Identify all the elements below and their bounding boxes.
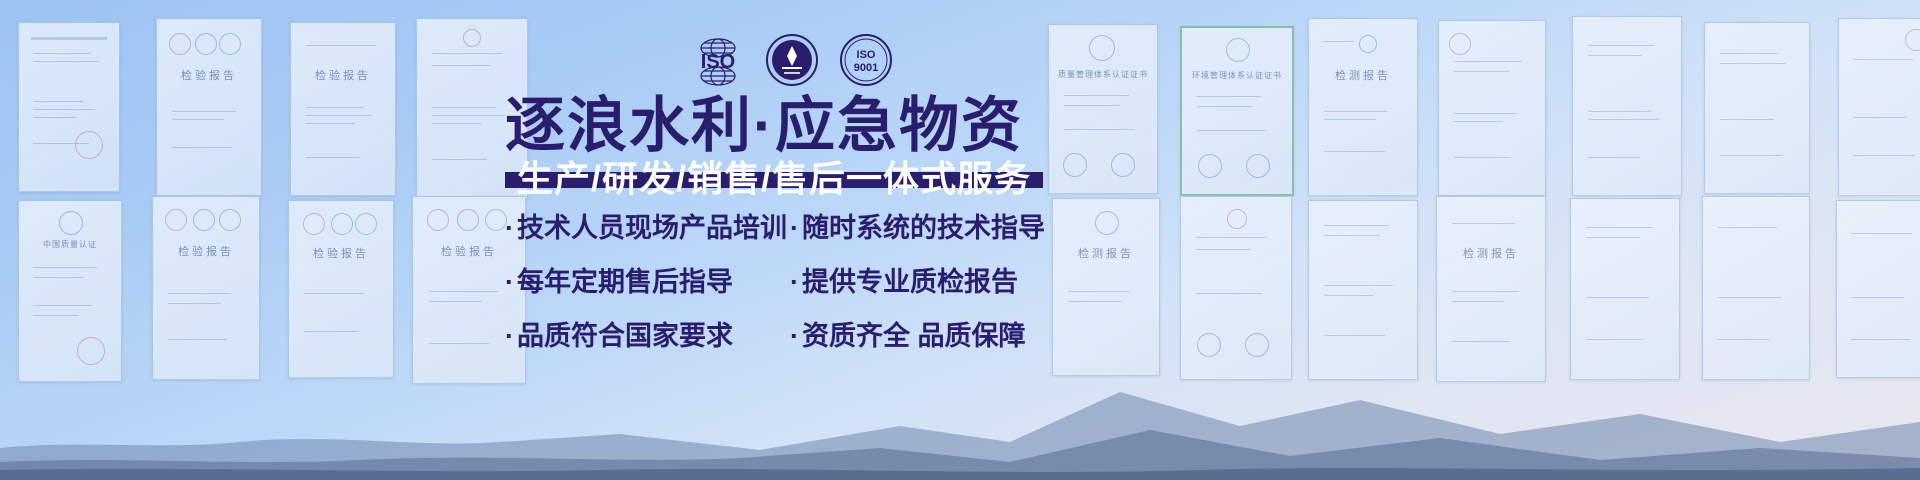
certificate-caption: 检测报告	[1463, 245, 1519, 261]
bullet-dot-icon: ·	[790, 267, 799, 297]
feature-label: 资质齐全 品质保障	[802, 321, 1026, 351]
feature-item: ·技术人员现场产品培训	[505, 206, 790, 245]
feature-item: ·每年定期售后指导	[505, 260, 790, 299]
certificate-thumb	[1572, 16, 1682, 196]
iso-9001-badge: ISO 9001	[838, 32, 894, 88]
banner-content: 逐浪水利·应急物资 生产/研发/销售/售后一体式服务 ·技术人员现场产品培训 ·…	[505, 96, 1105, 353]
certificate-caption: 中国质量认证	[43, 239, 97, 250]
certificate-thumb: 检验报告	[288, 200, 394, 378]
certification-seal-badge	[764, 32, 820, 88]
certificate-thumb	[1702, 196, 1810, 380]
svg-text:ISO: ISO	[857, 49, 876, 61]
certificate-thumb: 中国质量认证	[18, 200, 122, 382]
certificate-thumb: 检测报告	[1308, 18, 1418, 196]
certificate-thumb	[1570, 198, 1680, 380]
feature-label: 提供专业质检报告	[802, 267, 1018, 297]
feature-label: 技术人员现场产品培训	[517, 213, 787, 243]
promo-banner: 检验报告 检验报告 质量管理体系认证证书	[0, 0, 1920, 480]
certificate-thumb	[1438, 20, 1546, 196]
feature-item: ·提供专业质检报告	[790, 260, 1105, 299]
certificate-thumb	[1308, 200, 1418, 380]
certificate-thumb	[1838, 18, 1920, 196]
certificate-thumb	[1704, 22, 1810, 194]
certificate-caption: 检验报告	[313, 245, 369, 261]
feature-list: ·技术人员现场产品培训 ·随时系统的技术指导 ·每年定期售后指导 ·提供专业质检…	[505, 206, 1105, 353]
certificate-thumb: 检验报告	[290, 22, 396, 196]
feature-item: ·品质符合国家要求	[505, 314, 790, 353]
certificate-thumb	[1836, 200, 1920, 378]
iso-globe-badge: ISO	[690, 32, 746, 88]
certificate-thumb: 检验报告	[152, 196, 260, 380]
bullet-dot-icon: ·	[790, 213, 799, 243]
certificate-caption: 检验报告	[315, 67, 371, 83]
bullet-dot-icon: ·	[505, 267, 514, 297]
certificate-thumb: 检测报告	[1436, 196, 1546, 382]
service-tagline-bar: 生产/研发/销售/售后一体式服务	[505, 172, 1043, 188]
feature-label: 随时系统的技术指导	[802, 213, 1045, 243]
bullet-dot-icon: ·	[505, 321, 514, 351]
certificate-caption: 环境管理体系认证证书	[1192, 70, 1282, 81]
certification-badges: ISO ISO 9001	[690, 30, 890, 90]
feature-label: 每年定期售后指导	[517, 267, 733, 297]
svg-text:ISO: ISO	[701, 51, 735, 73]
feature-item: ·随时系统的技术指导	[790, 206, 1105, 245]
certificate-caption: 检验报告	[181, 67, 237, 83]
certificate-caption: 质量管理体系认证证书	[1058, 69, 1148, 80]
certificate-thumb: 检验报告	[156, 18, 262, 196]
certificate-caption: 检验报告	[441, 243, 497, 259]
certificate-thumb: 环境管理体系认证证书	[1180, 26, 1294, 196]
certificate-caption: 检验报告	[178, 243, 234, 259]
certificate-thumb	[18, 22, 120, 192]
feature-label: 品质符合国家要求	[517, 321, 733, 351]
feature-item: ·资质齐全 品质保障	[790, 314, 1105, 353]
certificate-caption: 检测报告	[1335, 67, 1391, 83]
page-title: 逐浪水利·应急物资	[505, 96, 1105, 156]
svg-text:9001: 9001	[854, 62, 878, 74]
bullet-dot-icon: ·	[790, 321, 799, 351]
certificate-thumb	[1180, 196, 1292, 380]
bullet-dot-icon: ·	[505, 213, 514, 243]
